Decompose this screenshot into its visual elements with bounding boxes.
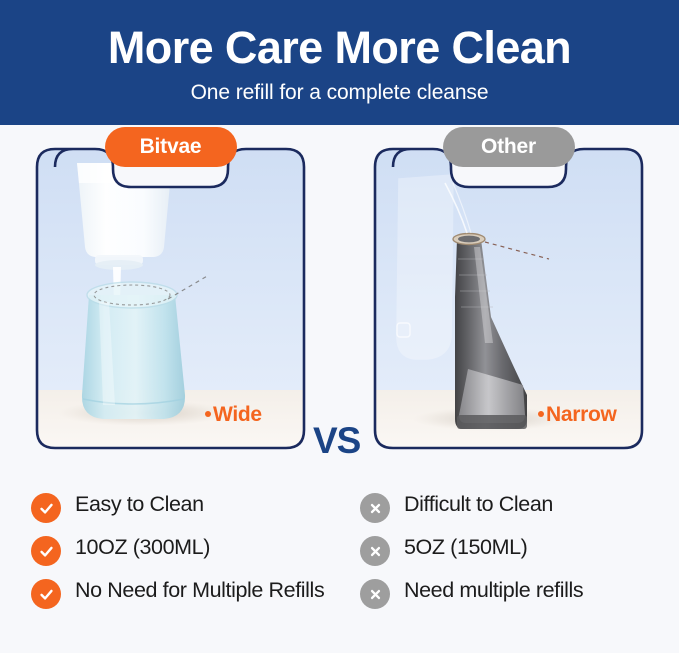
feature-list-other: Difficult to Clean 5OZ (150ML) Need mult…: [350, 488, 679, 653]
list-item: 5OZ (150ML): [360, 535, 679, 566]
callout-dot-icon: [205, 411, 211, 417]
header-banner: More Care More Clean One refill for a co…: [0, 0, 679, 125]
callout-wide: Wide: [205, 403, 262, 427]
page-title: More Care More Clean: [108, 24, 571, 71]
list-item: 10OZ (300ML): [31, 535, 350, 566]
check-icon: [31, 579, 61, 609]
comparison-section: Bitvae: [0, 125, 679, 475]
badge-bitvae[interactable]: Bitvae: [105, 127, 237, 167]
bitvae-panel-artwork: [33, 147, 308, 452]
feature-label: 10OZ (300ML): [75, 535, 210, 560]
list-item: Easy to Clean: [31, 492, 350, 523]
feature-label: No Need for Multiple Refills: [75, 578, 324, 603]
callout-narrow: Narrow: [538, 403, 617, 427]
cross-icon: [360, 579, 390, 609]
cross-icon: [360, 493, 390, 523]
feature-label: Difficult to Clean: [404, 492, 553, 517]
badge-other[interactable]: Other: [443, 127, 575, 167]
check-icon: [31, 493, 61, 523]
feature-label: Easy to Clean: [75, 492, 204, 517]
check-icon: [31, 536, 61, 566]
callout-narrow-label: Narrow: [546, 403, 617, 426]
list-item: Difficult to Clean: [360, 492, 679, 523]
feature-label: 5OZ (150ML): [404, 535, 527, 560]
page-subtitle: One refill for a complete cleanse: [191, 81, 489, 105]
vs-label: VS: [313, 420, 360, 462]
feature-lists: Easy to Clean 10OZ (300ML) No Need for M…: [0, 488, 679, 653]
feature-label: Need multiple refills: [404, 578, 583, 603]
cross-icon: [360, 536, 390, 566]
callout-wide-label: Wide: [213, 403, 262, 426]
list-item: No Need for Multiple Refills: [31, 578, 350, 609]
callout-dot-icon: [538, 411, 544, 417]
feature-list-bitvae: Easy to Clean 10OZ (300ML) No Need for M…: [0, 488, 350, 653]
list-item: Need multiple refills: [360, 578, 679, 609]
product-panel-bitvae: Bitvae: [33, 147, 308, 452]
